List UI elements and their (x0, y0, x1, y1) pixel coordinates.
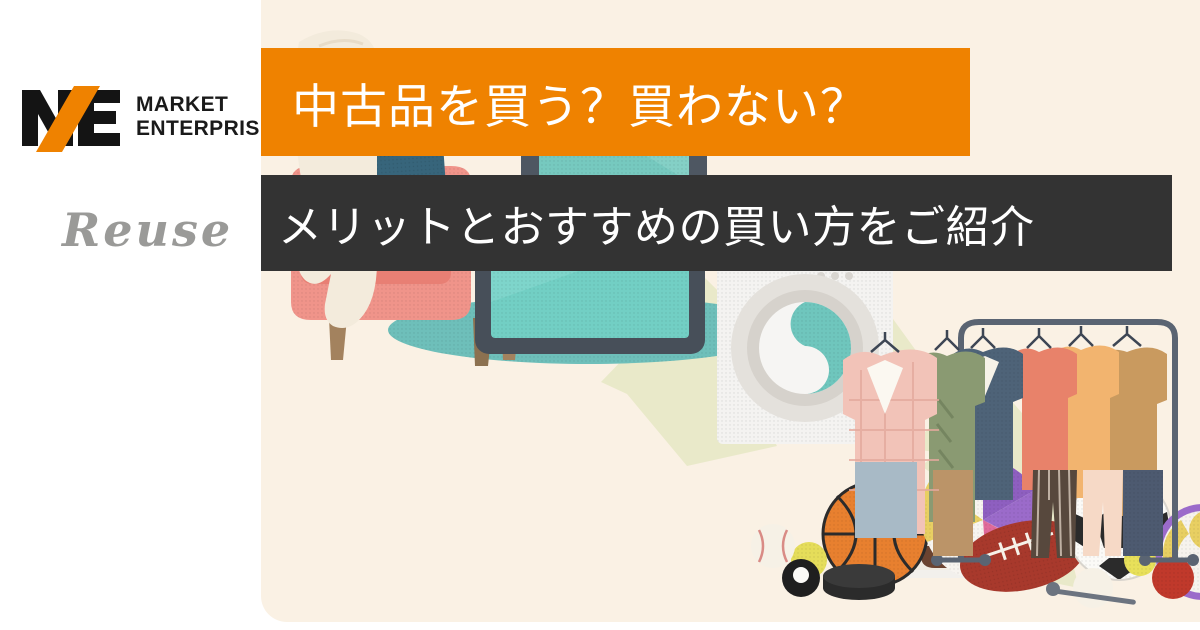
brand-logo[interactable]: MARKET ENTERPRISE (16, 82, 256, 158)
headline-secondary-bar: メリットとおすすめの買い方をご紹介 (261, 175, 1172, 271)
promo-banner: MARKET ENTERPRISE Reuse 中古品を買う？買わない？ メリッ… (0, 0, 1200, 630)
headline-primary-text: 中古品を買う？買わない？ (292, 68, 868, 137)
market-enterprise-monogram-icon (16, 82, 126, 154)
brand-wordmark-line1: MARKET (136, 93, 276, 117)
brand-wordmark-line2: ENTERPRISE (136, 117, 276, 141)
headline-secondary-text: メリットとおすすめの買い方をご紹介 (278, 191, 1035, 255)
reuse-tagline-text: Reuse (60, 203, 233, 257)
headline-primary-bar: 中古品を買う？買わない？ (261, 48, 970, 156)
baseball-shape (751, 524, 795, 568)
brand-wordmark: MARKET ENTERPRISE (136, 93, 276, 140)
billiard-ball-shape (782, 559, 820, 597)
baseball-shape (1073, 568, 1113, 608)
reuse-tagline: Reuse (58, 196, 258, 266)
hockey-puck-shape (823, 564, 895, 600)
